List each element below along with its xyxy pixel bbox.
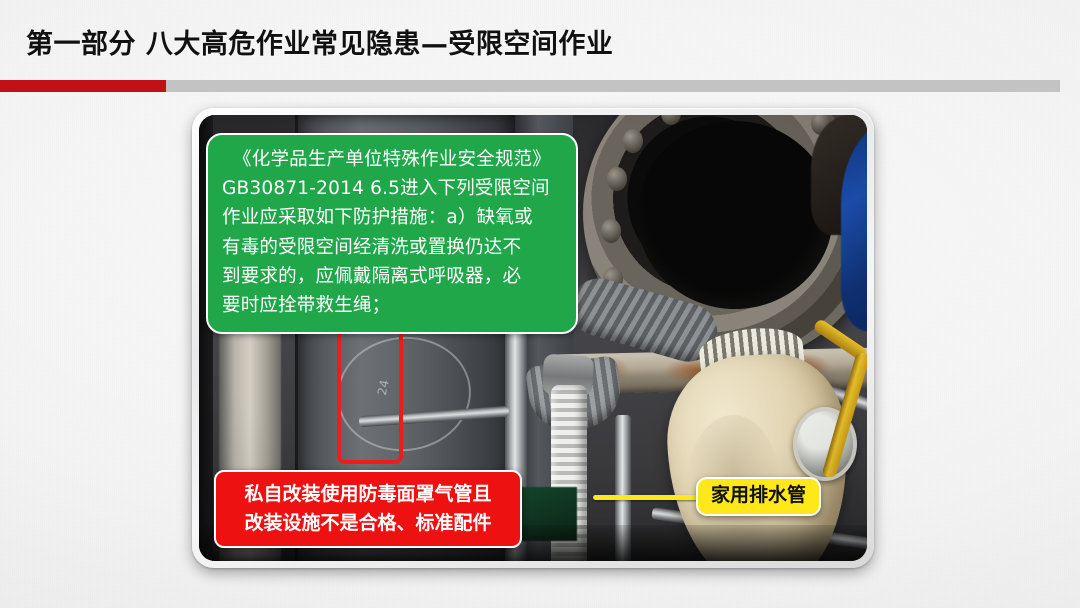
regulation-line: 到要求的，应佩戴隔离式呼吸器，必: [222, 262, 562, 291]
regulation-line: 作业应采取如下防护措施：a）缺氧或: [222, 203, 562, 232]
hazard-callout: 私自改装使用防毒面罩气管且 改装设施不是合格、标准配件: [214, 470, 522, 548]
regulation-line: 有毒的受限空间经清洗或置换仍达不: [222, 233, 562, 262]
drain-pipe-label: 家用排水管: [696, 477, 821, 516]
header-divider-accent: [0, 80, 166, 92]
callout-leader-line: [593, 495, 701, 500]
hazard-line: 改装设施不是合格、标准配件: [228, 509, 508, 538]
regulation-line: 要时应拴带救生绳；: [222, 291, 562, 320]
manhole-opening: [637, 121, 833, 309]
page-title: 第一部分 八大高危作业常见隐患—受限空间作业: [26, 22, 613, 61]
flange-bolt: [623, 129, 643, 153]
slide-canvas: 第一部分 八大高危作业常见隐患—受限空间作业 24: [0, 0, 1080, 608]
flange-bolt: [601, 219, 621, 243]
regulation-callout: 《化学品生产单位特殊作业安全规范》 GB30871-2014 6.5进入下列受限…: [206, 133, 578, 334]
regulation-line: 《化学品生产单位特殊作业安全规范》: [222, 145, 562, 174]
hazard-line: 私自改装使用防毒面罩气管且: [228, 480, 508, 509]
flange-bolt: [607, 167, 627, 191]
regulation-line: GB30871-2014 6.5进入下列受限空间: [222, 174, 562, 203]
